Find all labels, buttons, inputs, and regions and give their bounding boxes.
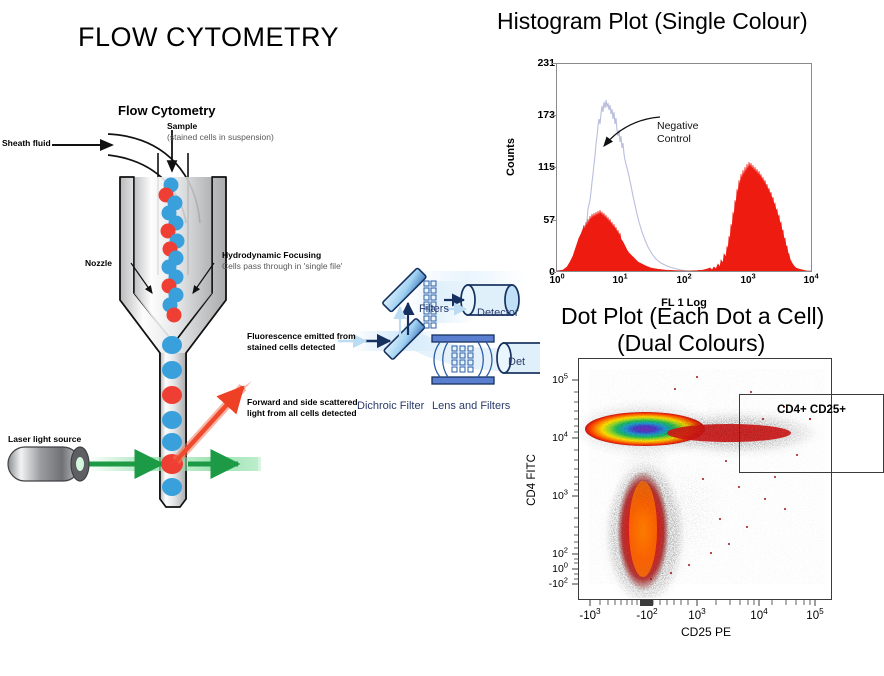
label-fluorescence-line2: stained cells detected <box>247 342 356 353</box>
label-scatter: Forward and side scattered light from al… <box>247 397 358 419</box>
histogram-xtick: 100 <box>549 275 564 286</box>
page-title: FLOW CYTOMETRY <box>78 22 339 53</box>
label-laser-light-source: Laser light source <box>8 434 81 445</box>
label-detector-1: Detector <box>477 307 519 319</box>
histogram-title: Histogram Plot (Single Colour) <box>497 8 808 35</box>
label-lens-and-filters: Lens and Filters <box>432 400 510 412</box>
label-sample-sub: (stained cells in suspension) <box>167 132 274 143</box>
label-nozzle: Nozzle <box>85 258 112 269</box>
negative-control-line2: Control <box>657 133 698 146</box>
negative-control-annotation: Negative Control <box>657 120 698 145</box>
label-hydro-sub: Cells pass through in 'single file' <box>222 261 342 272</box>
histogram-sample-fill <box>557 162 811 271</box>
label-dichroic-filter: Dichroic Filter <box>357 400 424 412</box>
histogram-svg <box>557 64 811 271</box>
dotplot-axis-ticks <box>520 350 884 650</box>
histogram-xtick: 102 <box>676 275 691 286</box>
histogram-ytick: 173 <box>515 109 555 121</box>
histogram-ytick: 231 <box>515 57 555 69</box>
histogram-plot: Counts 231 173 115 57 0 Negative Control… <box>497 45 877 295</box>
dotplot-title-line1: Dot Plot (Each Dot a Cell) <box>561 303 824 330</box>
histogram-ytick: 57 <box>515 214 555 226</box>
label-scatter-line2: light from all cells detected <box>247 408 358 419</box>
label-sheath-fluid: Sheath fluid <box>2 138 51 149</box>
label-hydrodynamic-focusing: Hydrodynamic Focusing Cells pass through… <box>222 250 342 271</box>
histogram-plot-area <box>556 63 812 272</box>
label-hydro-title: Hydrodynamic Focusing <box>222 250 342 261</box>
negative-control-line1: Negative <box>657 120 698 133</box>
label-filters: Filters <box>419 303 449 315</box>
label-fluorescence: Fluorescence emitted from stained cells … <box>247 331 356 353</box>
label-fluorescence-line1: Fluorescence emitted from <box>247 331 356 342</box>
histogram-xtick: 104 <box>803 275 818 286</box>
histogram-xtick: 103 <box>740 275 755 286</box>
label-sample: Sample (stained cells in suspension) <box>167 121 274 142</box>
label-scatter-line1: Forward and side scattered <box>247 397 358 408</box>
dot-plot: CD4 FITC 105 104 103 102 100 -102 <box>520 350 884 650</box>
flow-cytometry-schematic <box>0 95 540 545</box>
histogram-xtick: 101 <box>612 275 627 286</box>
histogram-ytick: 115 <box>515 161 555 173</box>
label-sample-title: Sample <box>167 121 274 132</box>
